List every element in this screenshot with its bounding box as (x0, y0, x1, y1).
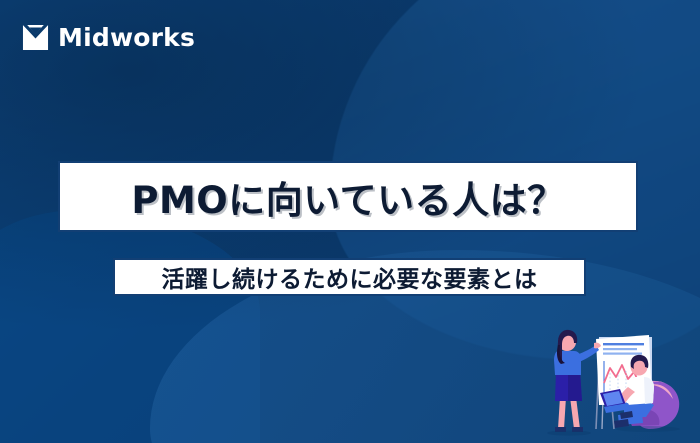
brand-name: Midworks (58, 25, 195, 50)
headline-subtitle: 活躍し続けるために必要な要素とは (162, 260, 538, 294)
business-presentation-illustration (536, 325, 696, 443)
headline-title-box: PMOに向いている人は？ (58, 161, 638, 232)
banner-canvas: Midworks PMOに向いている人は？ 活躍し続けるために必要な要素とは (0, 0, 700, 443)
presenter-woman-icon (554, 330, 601, 432)
headline-subtitle-box: 活躍し続けるために必要な要素とは (113, 258, 586, 296)
headline-title: PMOに向いている人は？ (131, 170, 564, 224)
brand-logo[interactable]: Midworks (22, 24, 195, 51)
illustration-svg (536, 325, 696, 443)
midworks-envelope-mark-icon (22, 24, 49, 51)
